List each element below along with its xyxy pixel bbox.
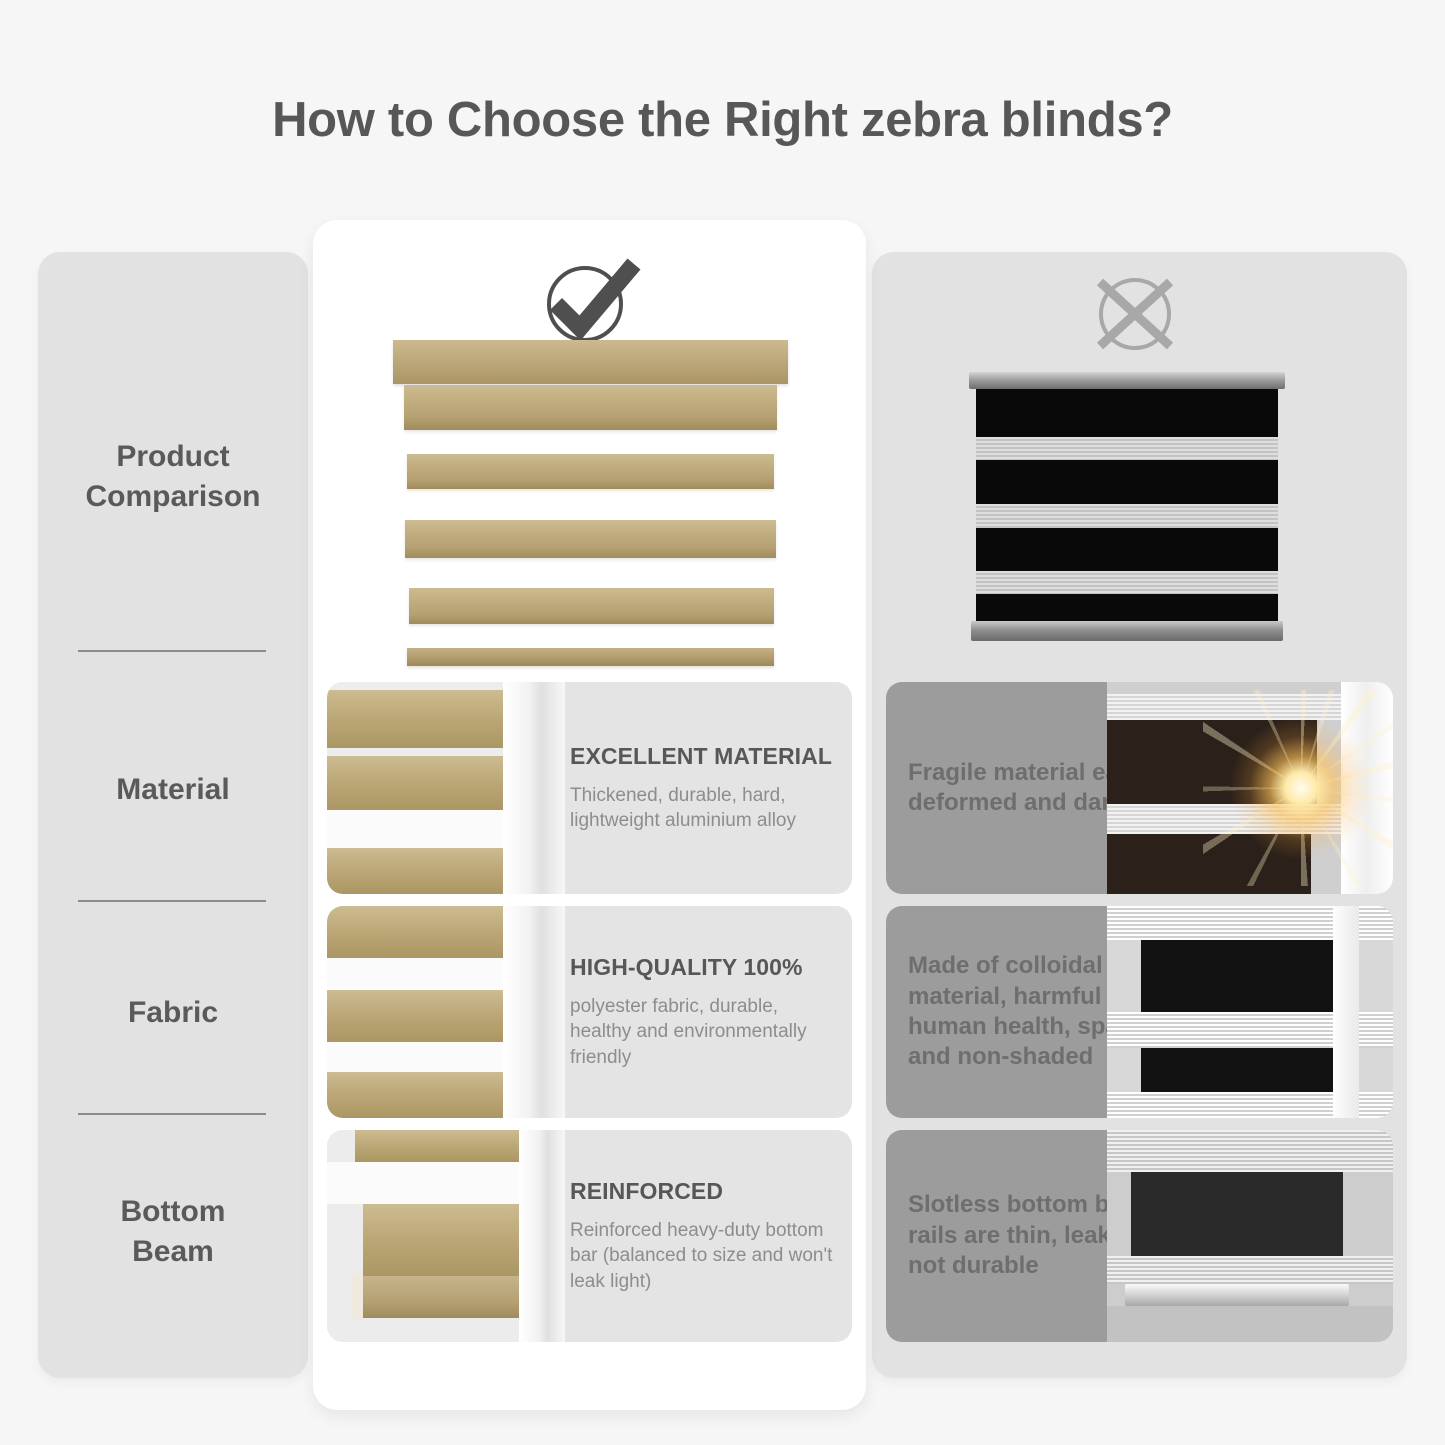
row-label-bottom-beam: Bottom Beam — [38, 1192, 308, 1272]
blind-sheer-stripe — [976, 571, 1278, 594]
beige-blind-window-photo — [327, 682, 565, 894]
good-feature-text: HIGH-QUALITY 100% polyester fabric, dura… — [570, 906, 852, 1118]
blind-sheer-stripe — [327, 958, 517, 990]
feature-body: polyester fabric, durable, healthy and e… — [570, 994, 838, 1070]
feature-heading: REINFORCED — [570, 1178, 838, 1205]
blind-slat — [1141, 940, 1337, 1012]
blind-slat — [409, 588, 774, 624]
bad-feature-card-bottom-beam: Slotless bottom beam rails are thin, lea… — [886, 1130, 1393, 1342]
blind-sheer-stripe — [1107, 1130, 1393, 1172]
row-label-line1: Material — [38, 770, 308, 810]
blind-bottom-bar — [407, 648, 774, 666]
good-feature-text: EXCELLENT MATERIAL Thickened, durable, h… — [570, 682, 852, 894]
blind-slat — [327, 756, 515, 810]
blind-slat — [404, 385, 777, 430]
window-frame — [503, 682, 565, 894]
blind-slat — [1131, 1172, 1343, 1256]
slotless-bottom-rail-photo — [1107, 1130, 1393, 1342]
blind-bottom-bar — [971, 621, 1283, 641]
blind-sheer-stripe — [327, 810, 513, 848]
feature-body: Thickened, durable, hard, lightweight al… — [570, 783, 838, 834]
blind-sheer-stripe — [327, 1042, 515, 1072]
row-label-line2: Beam — [38, 1232, 308, 1272]
row-label-line1: Bottom — [38, 1192, 308, 1232]
feature-heading: EXCELLENT MATERIAL — [570, 743, 838, 770]
blind-sheer-stripe — [1107, 1256, 1393, 1284]
good-feature-card-fabric: HIGH-QUALITY 100% polyester fabric, dura… — [327, 906, 852, 1118]
blind-headrail — [393, 340, 788, 384]
blind-slat — [327, 1072, 521, 1118]
bottom-bar-end-cap — [351, 1274, 363, 1320]
blind-slat — [327, 906, 525, 958]
photo-backdrop — [1107, 1306, 1393, 1342]
beige-bottom-bar-photo — [327, 1130, 565, 1342]
blind-slat — [327, 848, 519, 894]
good-hero-product-image — [383, 340, 795, 665]
dark-sheer-blind-photo — [1107, 906, 1393, 1118]
row-label-material: Material — [38, 770, 308, 810]
row-divider — [78, 650, 266, 652]
window-frame — [519, 1130, 565, 1342]
cross-circle-icon — [1080, 268, 1190, 360]
blind-slat — [407, 454, 774, 489]
blind-sheer-stripe — [976, 504, 1278, 528]
row-label-line2: Comparison — [38, 477, 308, 517]
good-feature-card-bottom-beam: REINFORCED Reinforced heavy-duty bottom … — [327, 1130, 852, 1342]
bad-hero-product-image — [967, 372, 1287, 644]
infographic-page: How to Choose the Right zebra blinds? Pr… — [0, 0, 1445, 1445]
blind-slat — [327, 690, 523, 748]
blind-slat — [405, 520, 776, 558]
blind-headrail — [969, 372, 1285, 389]
blind-slat — [1141, 1048, 1337, 1092]
row-divider — [78, 1113, 266, 1115]
row-label-product-comparison: Product Comparison — [38, 437, 308, 517]
blind-bottom-bar — [355, 1276, 531, 1318]
blind-sheer-stripe — [976, 437, 1278, 460]
blind-sheer-stripe — [327, 1162, 527, 1204]
blind-slat — [355, 1130, 525, 1162]
row-label-fabric: Fabric — [38, 993, 308, 1033]
page-title: How to Choose the Right zebra blinds? — [0, 92, 1445, 148]
check-circle-icon — [530, 248, 650, 348]
sun-flare-icon — [1231, 718, 1371, 858]
feature-body: Reinforced heavy-duty bottom bar (balanc… — [570, 1218, 838, 1294]
window-frame — [1333, 906, 1359, 1118]
window-frame — [503, 906, 565, 1118]
beige-blind-fabric-photo — [327, 906, 565, 1118]
row-divider — [78, 900, 266, 902]
feature-heading: HIGH-QUALITY 100% — [570, 954, 838, 981]
blind-bottom-bar — [1125, 1284, 1349, 1306]
blind-slat — [327, 990, 523, 1042]
blind-fabric — [976, 389, 1278, 621]
bad-feature-card-fabric: Made of colloidal material, harmful to h… — [886, 906, 1393, 1118]
row-label-line1: Fabric — [38, 993, 308, 1033]
blind-slat — [363, 1204, 529, 1276]
good-feature-card-material: EXCELLENT MATERIAL Thickened, durable, h… — [327, 682, 852, 894]
row-label-line1: Product — [38, 437, 308, 477]
good-feature-text: REINFORCED Reinforced heavy-duty bottom … — [570, 1130, 852, 1342]
bad-feature-card-material: Fragile material easily deformed and dam… — [886, 682, 1393, 894]
sun-leak-window-photo — [1107, 682, 1393, 894]
